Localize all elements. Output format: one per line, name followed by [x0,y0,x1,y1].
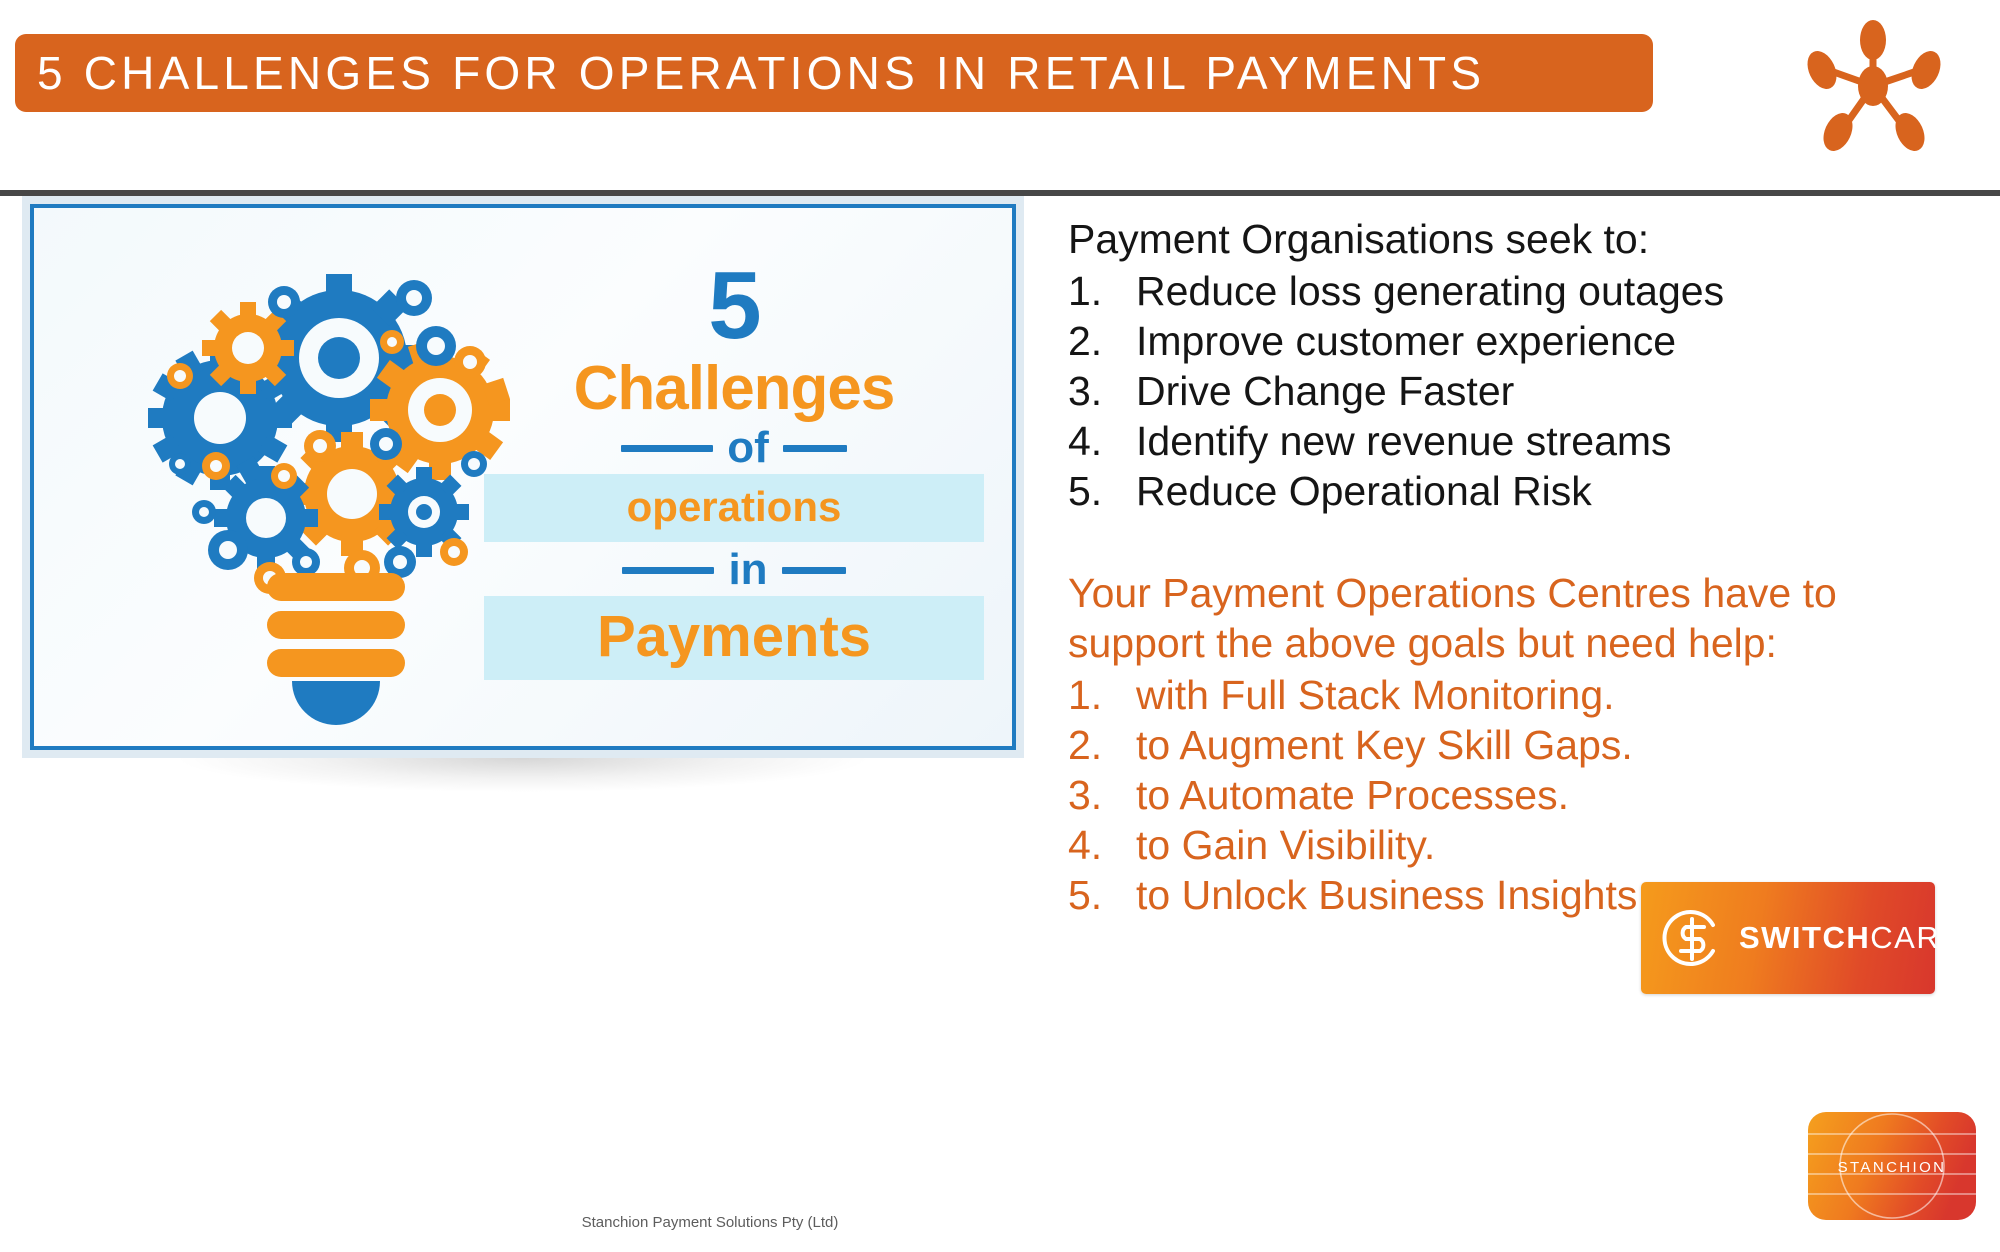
page-title: 5 CHALLENGES FOR OPERATIONS IN RETAIL PA… [37,46,1485,100]
stanchion-wordmark: STANCHION [1838,1159,1947,1176]
switchcare-wordmark: SWITCHCARE [1739,920,1962,956]
illustration-text-block: 5 Challenges of operations in Payments [484,260,984,680]
list-item-text: to Gain Visibility. [1136,820,1978,870]
list-item: 1.Reduce loss generating outages [1068,266,1978,316]
bulb-base-band [267,573,405,601]
illustration-in-word: in [728,548,767,592]
list-item-number: 4. [1068,416,1136,466]
list-item-number: 1. [1068,266,1136,316]
list-item-number: 4. [1068,820,1136,870]
list-item: 2.to Augment Key Skill Gaps. [1068,720,1978,770]
list-item-text: Identify new revenue streams [1136,416,1978,466]
gear-cloud-icon [124,250,544,600]
goals-list: 1.Reduce loss generating outages2.Improv… [1068,266,1978,516]
illustration-frame: 5 Challenges of operations in Payments [30,204,1016,750]
switchcare-word-bold: SWITCH [1739,920,1870,955]
stanchion-card-logo: STANCHION [1806,1110,1978,1222]
list-item-number: 2. [1068,316,1136,366]
illustration-of-word: of [727,426,769,470]
illustration-challenges-word: Challenges [484,358,984,420]
illustration-number: 5 [484,260,984,352]
goals-block: Payment Organisations seek to: 1.Reduce … [1068,214,1978,516]
network-nodes-logo-icon [1798,18,1948,154]
illustration-payments-highlight: Payments [484,596,984,680]
rule-right [782,567,846,574]
list-item-text: Reduce Operational Risk [1136,466,1978,516]
help-block: Your Payment Operations Centres have to … [1068,568,1978,920]
list-item: 4.Identify new revenue streams [1068,416,1978,466]
goals-heading: Payment Organisations seek to: [1068,214,1978,264]
illustration-payments-word: Payments [597,604,871,669]
bulb-cap [292,681,380,725]
help-heading: Your Payment Operations Centres have to … [1068,568,1908,668]
switchcare-s-icon [1659,905,1725,971]
illustration-operations-highlight: operations [484,474,984,542]
slide-title-bar: 5 CHALLENGES FOR OPERATIONS IN RETAIL PA… [15,34,1653,112]
list-item: 3.Drive Change Faster [1068,366,1978,416]
bulb-base-band [267,649,405,677]
illustration-of-row: of [484,426,984,470]
list-item-text: to Automate Processes. [1136,770,1978,820]
list-item-number: 3. [1068,366,1136,416]
content-column: Payment Organisations seek to: 1.Reduce … [1068,214,1978,920]
list-item: 5.Reduce Operational Risk [1068,466,1978,516]
illustration-in-row: in [484,548,984,592]
list-item: 1.with Full Stack Monitoring. [1068,670,1978,720]
list-item-number: 3. [1068,770,1136,820]
illustration-drop-shadow [22,758,1024,834]
challenges-illustration-panel: 5 Challenges of operations in Payments [22,196,1024,758]
list-item: 3.to Automate Processes. [1068,770,1978,820]
list-item: 4.to Gain Visibility. [1068,820,1978,870]
rule-right [783,445,847,452]
switchcare-word-light: CARE [1870,920,1962,955]
list-item-text: to Augment Key Skill Gaps. [1136,720,1978,770]
list-item-text: Reduce loss generating outages [1136,266,1978,316]
bulb-base-band [267,611,405,639]
list-item: 2.Improve customer experience [1068,316,1978,366]
list-item-text: Improve customer experience [1136,316,1978,366]
list-item-text: with Full Stack Monitoring. [1136,670,1978,720]
lightbulb-gears-graphic [124,250,544,720]
list-item-text: Drive Change Faster [1136,366,1978,416]
slide-canvas: 5 CHALLENGES FOR OPERATIONS IN RETAIL PA… [0,0,2000,1252]
rule-left [622,567,714,574]
footer-company-text: Stanchion Payment Solutions Pty (Ltd) [0,1214,1420,1231]
list-item-number: 2. [1068,720,1136,770]
rule-left [621,445,713,452]
list-item-number: 5. [1068,870,1136,920]
list-item-number: 1. [1068,670,1136,720]
illustration-operations-word: operations [627,483,842,530]
list-item-number: 5. [1068,466,1136,516]
switchcare-logo: SWITCHCARE [1641,882,1935,994]
